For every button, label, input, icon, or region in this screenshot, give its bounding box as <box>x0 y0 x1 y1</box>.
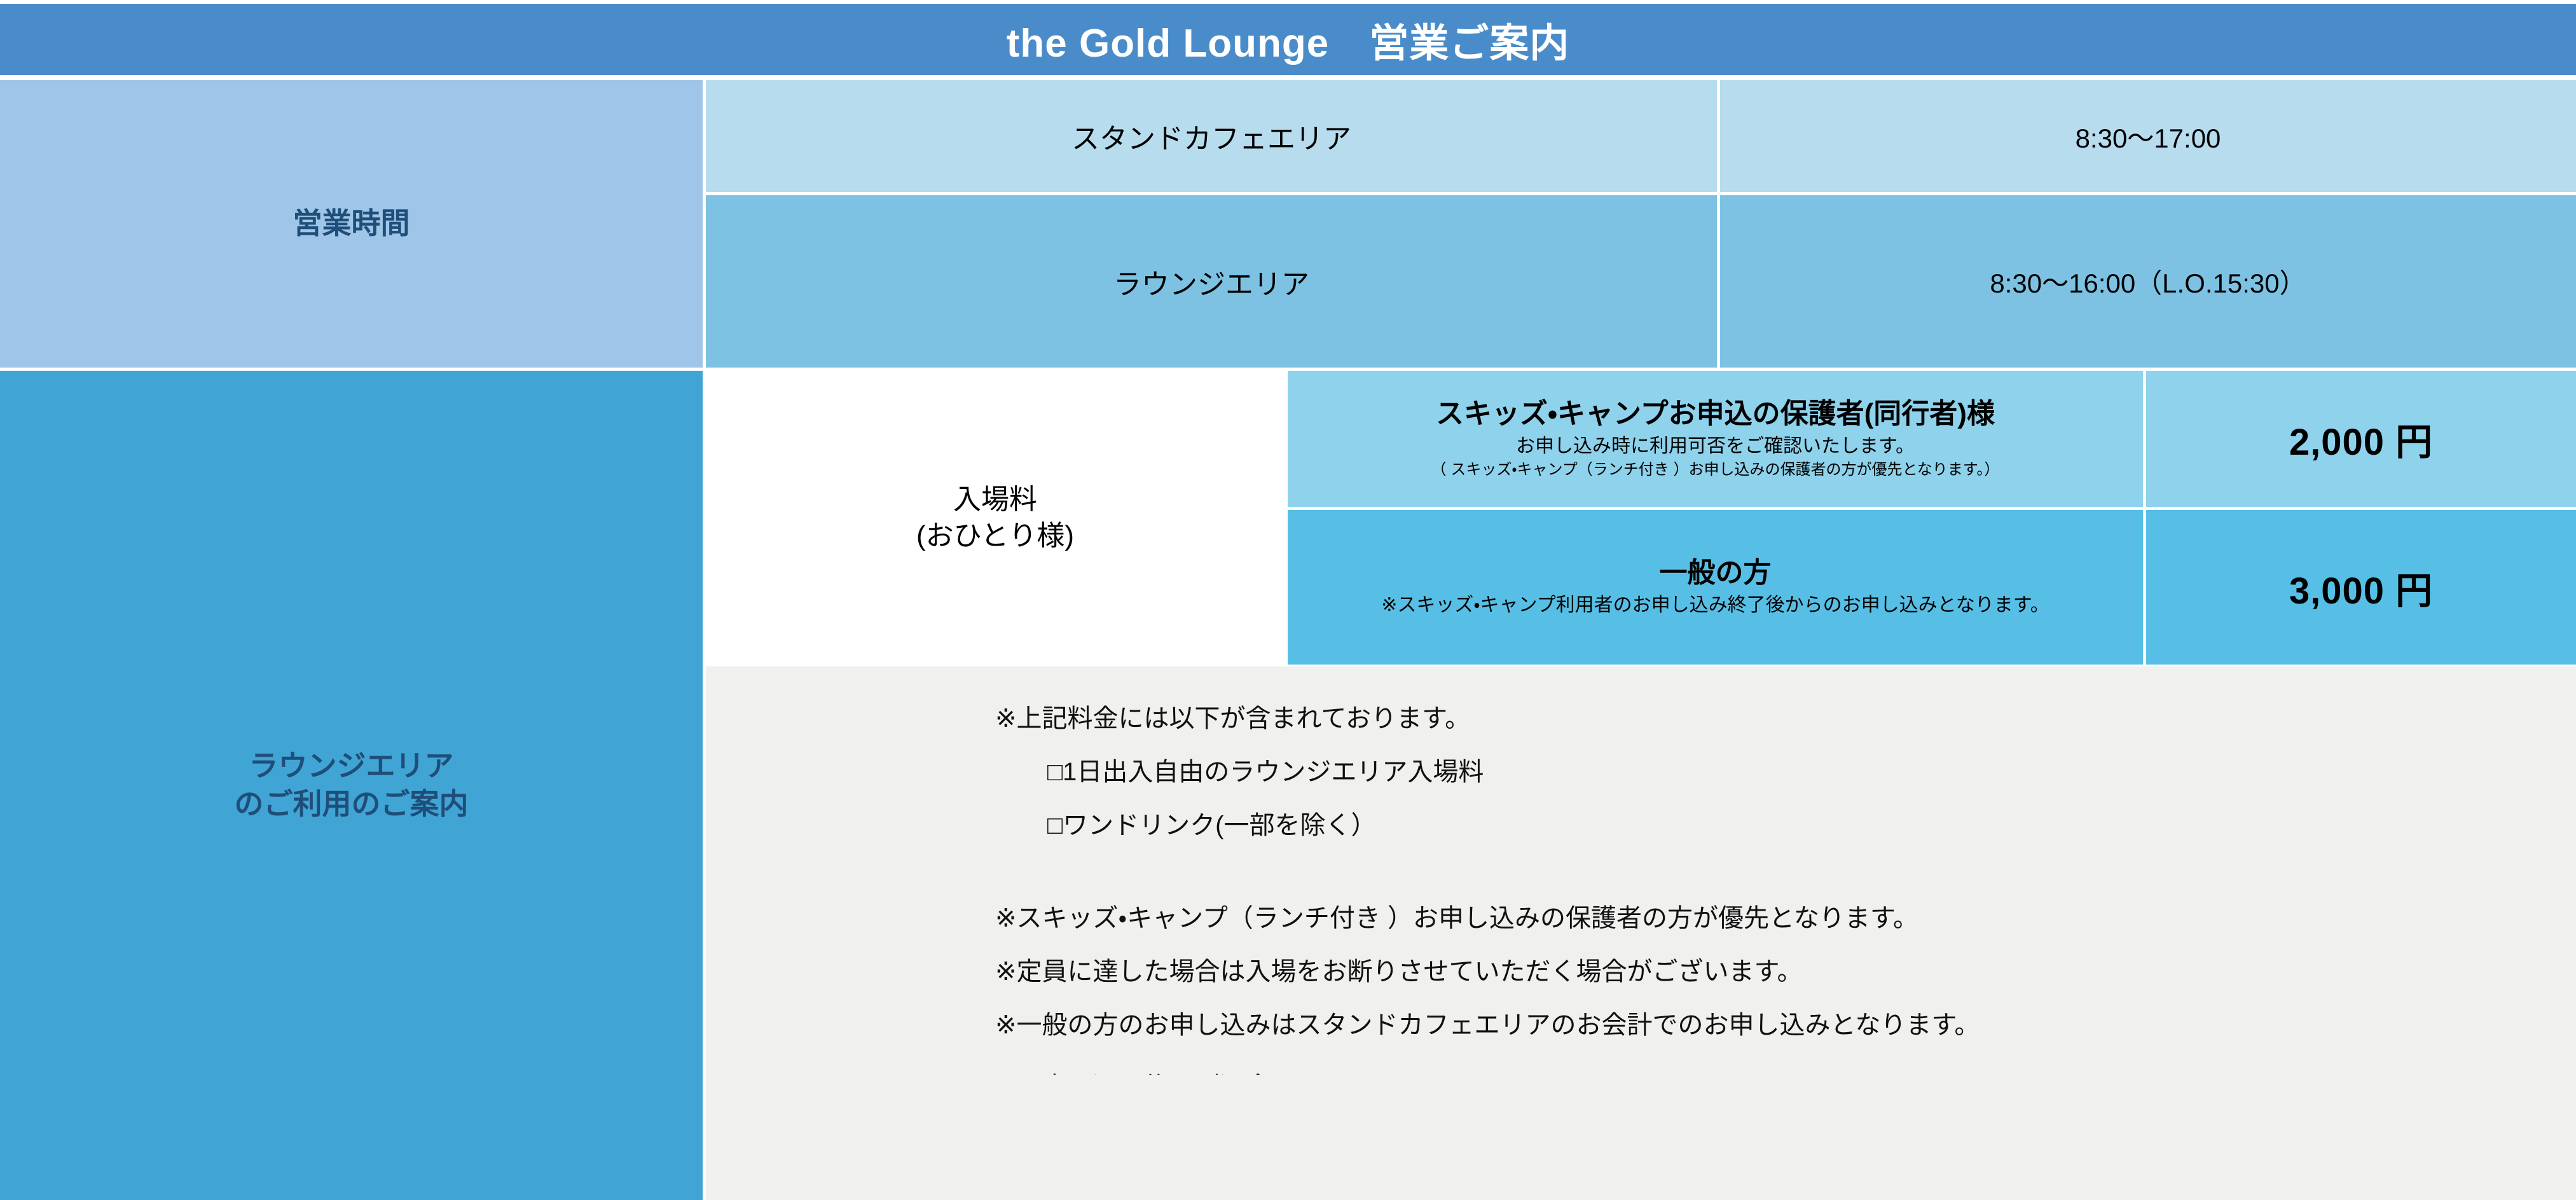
notes-caution-1: ※スキッズ・キャンプ（ランチ付き ）お申し込みの保護者の方が優先となります。 <box>995 906 2551 931</box>
hours-row-1-area-cell: スタンドカフェエリア <box>706 80 1717 192</box>
notes-clipped-line: ※お申し込み後のご返金はできかねます。 <box>995 1066 2551 1075</box>
tier-1-price-cell: 2,000 円 <box>2146 371 2576 507</box>
tier-2-title: 一般の方 <box>1660 557 1772 590</box>
tier-1-description-cell: スキッズ・キャンプお申込の保護者(同行者)様 お申し込み時に利用可否をご確認いた… <box>1288 371 2143 507</box>
tier-1-note: （ スキッズ・キャンプ（ランチ付き ）お申し込みの保護者の方が優先となります。） <box>1431 460 2000 479</box>
hours-row-2-time-cell: 8:30〜16:00（L.O.15:30） <box>1720 195 2576 368</box>
hours-row-1-area-label: スタンドカフェエリア <box>1071 116 1351 156</box>
hours-row-1-time-cell: 8:30〜17:00 <box>1720 80 2576 192</box>
hours-row-2-area-cell: ラウンジエリア <box>706 195 1717 368</box>
lounge-section-label-line2: のご利用のご案内 <box>235 785 469 824</box>
notes-caution-2: ※定員に達した場合は入場をお断りさせていただく場合がございます。 <box>995 959 2551 984</box>
hours-row-2-area-label: ラウンジエリア <box>1113 261 1309 302</box>
lounge-notes-panel: ※上記料金には以下が含まれております。 □1日出入自由のラウンジエリア入場料 □… <box>706 666 2576 1200</box>
hours-row-2-time-value: 8:30〜16:00（L.O.15:30） <box>1990 262 2306 301</box>
tier-2-subtitle: ※スキッズ・キャンプ利用者のお申し込み終了後からのお申し込みとなります。 <box>1381 593 2049 617</box>
admission-fee-label-line1: 入場料 <box>953 481 1037 518</box>
hours-section-label: 営業時間 <box>293 205 410 243</box>
notes-spacer <box>995 866 2551 906</box>
lounge-section-label-cell: ラウンジエリア のご利用のご案内 <box>0 371 703 1200</box>
page-title: the Gold Lounge 営業ご案内 <box>1007 11 1570 68</box>
lounge-section-label-line1: ラウンジエリア <box>249 747 454 785</box>
tier-2-price-value: 3,000 円 <box>2289 561 2433 614</box>
notes-included-item-2: □ワンドリンク(一部を除く） <box>995 813 2551 838</box>
hours-section-label-cell: 営業時間 <box>0 80 703 368</box>
notes-included-item-1: □1日出入自由のラウンジエリア入場料 <box>995 759 2551 785</box>
admission-fee-label-line2: (おひとり様) <box>916 518 1074 554</box>
hours-row-1-time-value: 8:30〜17:00 <box>2076 117 2221 156</box>
notes-caution-3: ※一般の方のお申し込みはスタンドカフェエリアのお会計でのお申し込みとなります。 <box>995 1012 2551 1038</box>
admission-fee-label-cell: 入場料 (おひとり様) <box>706 371 1285 665</box>
tier-1-price-value: 2,000 円 <box>2289 412 2433 466</box>
tier-1-subtitle: お申し込み時に利用可否をご確認いたします。 <box>1516 434 1915 459</box>
notes-lead-line: ※上記料金には以下が含まれております。 <box>995 706 2551 731</box>
tier-2-price-cell: 3,000 円 <box>2146 510 2576 665</box>
page-header-banner: the Gold Lounge 営業ご案内 <box>0 4 2576 75</box>
tier-2-description-cell: 一般の方 ※スキッズ・キャンプ利用者のお申し込み終了後からのお申し込みとなります… <box>1288 510 2143 665</box>
announcement-sheet: the Gold Lounge 営業ご案内 営業時間 スタンドカフェエリア 8:… <box>0 0 2576 1200</box>
tier-1-title: スキッズ・キャンプお申込の保護者(同行者)様 <box>1436 398 1995 431</box>
